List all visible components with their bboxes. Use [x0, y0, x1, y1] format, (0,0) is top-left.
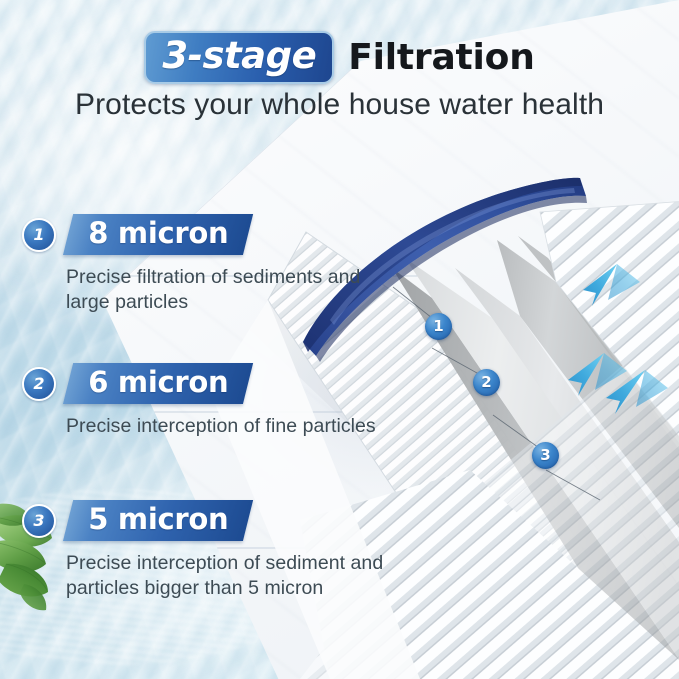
product-marker-2-label: 2: [481, 375, 491, 390]
page-title: Filtration: [348, 40, 534, 76]
stage-3-number: 3: [33, 513, 44, 529]
stage-1-micron-badge: 8 micron: [63, 214, 253, 255]
stage-2-number-badge: 2: [22, 367, 56, 401]
stage-3-number-badge: 3: [22, 504, 56, 538]
header-title-row: 3-stage Filtration: [0, 31, 679, 84]
stage-2-micron-badge: 6 micron: [63, 363, 253, 404]
product-marker-2: 2: [473, 369, 500, 396]
stage-3-header: 3 5 micron: [22, 500, 422, 542]
stage-callout-2: 2 6 micron Precise interception of fine …: [22, 363, 422, 439]
stage-2-number: 2: [33, 376, 44, 392]
stage-3-micron-label: 5 micron: [88, 503, 228, 536]
stage-2-description: Precise interception of fine particles: [66, 414, 396, 439]
stage-2-header: 2 6 micron: [22, 363, 422, 405]
page-subtitle: Protects your whole house water health: [0, 88, 679, 122]
stage-1-number-badge: 1: [22, 218, 56, 252]
stage-callout-3: 3 5 micron Precise interception of sedim…: [22, 500, 422, 601]
product-marker-1: 1: [425, 313, 452, 340]
stage-3-description: Precise interception of sediment and par…: [66, 551, 422, 601]
stage-3-micron-badge: 5 micron: [63, 500, 253, 541]
product-marker-1-label: 1: [433, 319, 443, 334]
stage-count-badge: 3-stage: [144, 31, 334, 84]
stage-count-badge-label: 3-stage: [162, 37, 316, 74]
stage-1-header: 1 8 micron: [22, 214, 422, 256]
stage-1-micron-label: 8 micron: [88, 217, 228, 250]
product-marker-3: 3: [532, 442, 559, 469]
stage-2-micron-label: 6 micron: [88, 366, 228, 399]
infographic-canvas: 3-stage Filtration Protects your whole h…: [0, 0, 679, 679]
stage-1-number: 1: [33, 227, 44, 243]
product-marker-3-label: 3: [540, 448, 550, 463]
stage-1-description: Precise filtration of sediments and larg…: [66, 265, 396, 315]
stage-callout-1: 1 8 micron Precise filtration of sedimen…: [22, 214, 422, 315]
